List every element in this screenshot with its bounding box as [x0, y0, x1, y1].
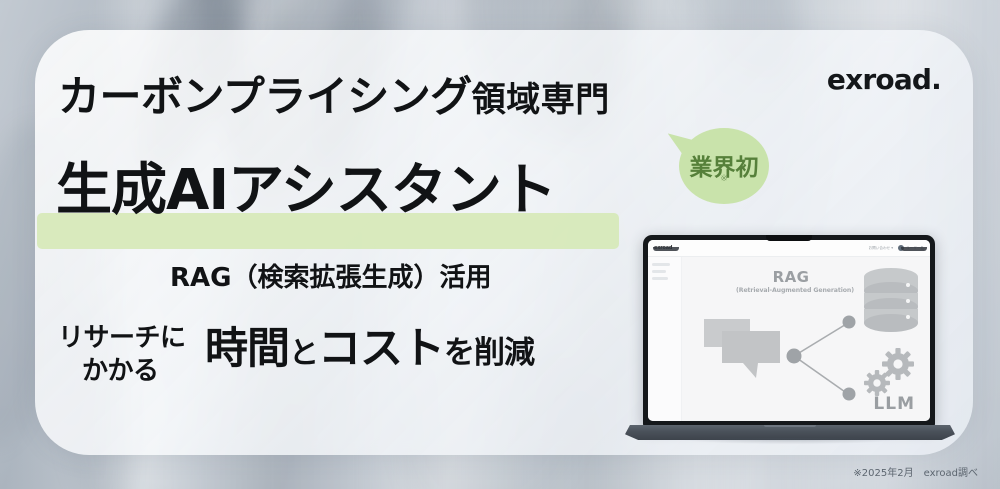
claim-prefix-line2: かかる: [58, 355, 186, 388]
claim-prefix: リサーチにかかる: [58, 322, 186, 387]
exroad-logo-dot: .: [931, 63, 941, 96]
laptop-mockup: exroad お問い合わせ ▾ ユーザー名: [625, 235, 955, 443]
status-badge: 業界初 ※: [679, 128, 769, 204]
kicker-main-text: カーボンプライシング: [58, 72, 472, 121]
exroad-logo: exroad.: [827, 63, 941, 96]
page-title: 生成AIアシスタント: [56, 163, 556, 219]
gears-icon: [864, 348, 914, 396]
laptop-foot: [653, 247, 679, 251]
kicker-small-text: 領域専門: [472, 80, 610, 120]
sidebar-item-placeholder[interactable]: [652, 263, 670, 266]
app-canvas: RAG (Retrieval-Augmented Generation): [682, 257, 930, 421]
laptop-foot: [901, 247, 927, 251]
kicker-line: カーボンプライシング領域専門: [58, 76, 610, 118]
badge-footnote-mark: ※: [679, 174, 769, 184]
diagram-edges: [794, 323, 848, 394]
diagram-llm-label: LLM: [873, 394, 915, 414]
laptop-shadow: [635, 438, 945, 452]
app-header: exroad お問い合わせ ▾ ユーザー名: [648, 240, 930, 257]
claim-conjunction: と: [289, 336, 318, 371]
claim-prefix-line1: リサーチに: [58, 323, 186, 353]
laptop-screen: exroad お問い合わせ ▾ ユーザー名: [648, 240, 930, 421]
laptop-camera-notch: [766, 235, 812, 241]
claim-reduce: を削減: [444, 335, 534, 371]
exroad-logo-text: exroad: [827, 63, 931, 96]
sidebar-item-placeholder[interactable]: [652, 277, 668, 280]
app-nav-link[interactable]: お問い合わせ ▾: [869, 246, 894, 251]
sidebar-item-placeholder[interactable]: [652, 270, 666, 273]
database-icon: [864, 268, 918, 332]
banner-stage: exroad. カーボンプライシング領域専門 生成AIアシスタント RAG（検索…: [0, 0, 1000, 489]
app-sidebar: [648, 257, 682, 421]
footnote: ※2025年2月 exroad調べ: [853, 464, 978, 479]
diagram-nodes: [787, 316, 856, 401]
claim-cost: コスト: [318, 324, 444, 374]
chat-bubbles-icon: [704, 319, 780, 378]
laptop-lid: exroad お問い合わせ ▾ ユーザー名: [643, 235, 935, 427]
claim-statement: 時間とコストを削減: [205, 328, 534, 371]
subtitle-rag: RAG（検索拡張生成）活用: [170, 265, 491, 291]
claim-time: 時間: [205, 324, 289, 374]
laptop-base-lip: [764, 425, 817, 427]
